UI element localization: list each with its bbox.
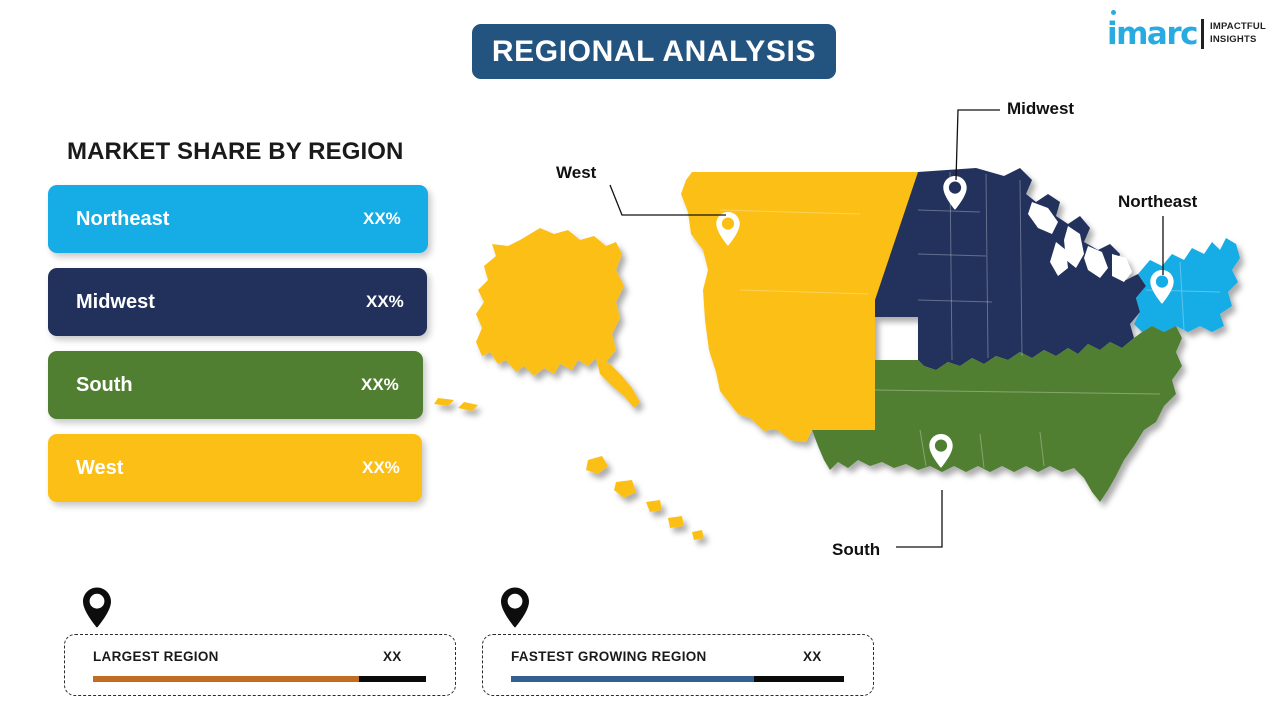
leader-line-midwest xyxy=(956,110,1000,180)
callout-label-midwest: Midwest xyxy=(1007,99,1074,119)
callout-label-northeast: Northeast xyxy=(1118,192,1197,212)
callout-leader-lines xyxy=(0,0,1280,720)
callout-label-south: South xyxy=(832,540,880,560)
leader-line-west xyxy=(610,185,726,215)
leader-line-south xyxy=(896,490,942,547)
callout-label-west: West xyxy=(556,163,596,183)
